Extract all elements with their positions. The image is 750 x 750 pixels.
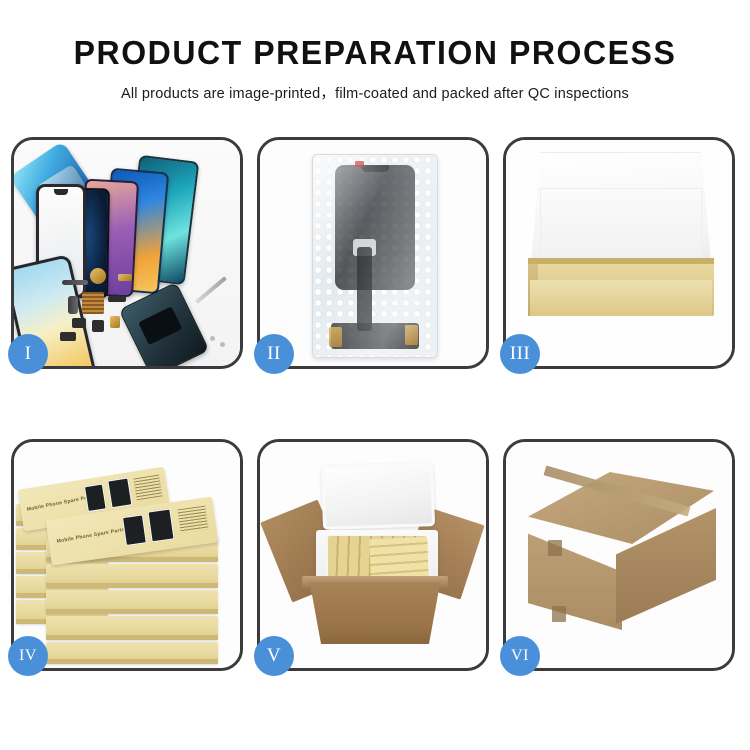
sim-tray-part-icon bbox=[60, 332, 76, 341]
box-screen-print-front-1 bbox=[122, 514, 147, 546]
box-screen-print-back-2 bbox=[107, 477, 132, 508]
kraft-tray-lip bbox=[528, 258, 714, 264]
step-badge-2: II bbox=[254, 334, 294, 374]
process-step-panel-2[interactable]: II bbox=[257, 137, 489, 369]
step-badge-1: I bbox=[8, 334, 48, 374]
product-preparation-page: PRODUCT PREPARATION PROCESS All products… bbox=[0, 0, 750, 750]
phone-chassis-icon bbox=[119, 282, 210, 366]
foam-lid-icon bbox=[321, 462, 435, 530]
page-subtitle: All products are image-printed，film-coat… bbox=[0, 82, 750, 103]
process-step-panel-1[interactable]: I bbox=[11, 137, 243, 369]
process-steps-grid: I II bbox=[11, 137, 739, 671]
step-6-image bbox=[506, 442, 732, 668]
connector-part-icon bbox=[68, 296, 78, 314]
step-1-image bbox=[14, 140, 240, 366]
screw-part-secondary-icon bbox=[220, 342, 225, 347]
box-screen-print-back-1 bbox=[84, 483, 107, 512]
page-title: PRODUCT PREPARATION PROCESS bbox=[11, 36, 739, 71]
white-box-lid-inner bbox=[540, 188, 702, 268]
step-badge-4: IV bbox=[8, 636, 48, 676]
speaker-part-icon bbox=[90, 268, 106, 284]
step-badge-5: V bbox=[254, 636, 294, 676]
step-2-image bbox=[260, 140, 486, 366]
step-3-image bbox=[506, 140, 732, 366]
camera-module-part-icon bbox=[72, 318, 86, 328]
step-badge-3: III bbox=[500, 334, 540, 374]
carton-flap-tab-upper bbox=[548, 540, 562, 556]
bubble-wrap-sheen bbox=[313, 155, 437, 357]
box-label-text-front: Mobile Phone Spare Parts bbox=[56, 527, 125, 545]
flex-cable-part-icon bbox=[62, 280, 88, 285]
small-flex-part-icon bbox=[108, 296, 126, 302]
screw-part-icon bbox=[210, 336, 215, 341]
vibrator-part-icon bbox=[92, 320, 104, 332]
kraft-box-front-5 bbox=[46, 642, 218, 664]
box-spec-lines-back bbox=[133, 475, 162, 501]
page-header: PRODUCT PREPARATION PROCESS All products… bbox=[0, 0, 750, 103]
button-flex-part-icon bbox=[118, 274, 132, 281]
step-5-image bbox=[260, 442, 486, 668]
kraft-boxes-inside-secondary-icon bbox=[369, 537, 428, 579]
chip-grid-part-icon bbox=[82, 292, 104, 314]
kraft-tray-front bbox=[530, 280, 712, 316]
carton-flap-tab-lower bbox=[552, 606, 566, 622]
bubble-wrap-bag-icon bbox=[312, 154, 438, 358]
kraft-box-stack-icon: Mobile Phone Spare Parts Mobile Phone Sp… bbox=[14, 442, 240, 668]
process-step-panel-5[interactable]: V bbox=[257, 439, 489, 671]
kraft-box-front-4 bbox=[46, 616, 218, 640]
step-4-image: Mobile Phone Spare Parts Mobile Phone Sp… bbox=[14, 442, 240, 668]
tweezers-icon bbox=[195, 276, 227, 303]
process-step-panel-4[interactable]: Mobile Phone Spare Parts Mobile Phone Sp… bbox=[11, 439, 243, 671]
box-screen-print-front-2 bbox=[147, 508, 174, 542]
kraft-box-front-2 bbox=[46, 564, 218, 588]
gold-contact-part-icon bbox=[110, 316, 120, 328]
step-badge-6: VI bbox=[500, 636, 540, 676]
carton-body-icon bbox=[304, 582, 446, 644]
process-step-panel-6[interactable]: VI bbox=[503, 439, 735, 671]
kraft-box-front-3 bbox=[46, 590, 218, 614]
box-spec-lines-front bbox=[177, 506, 208, 534]
process-step-panel-3[interactable]: III bbox=[503, 137, 735, 369]
